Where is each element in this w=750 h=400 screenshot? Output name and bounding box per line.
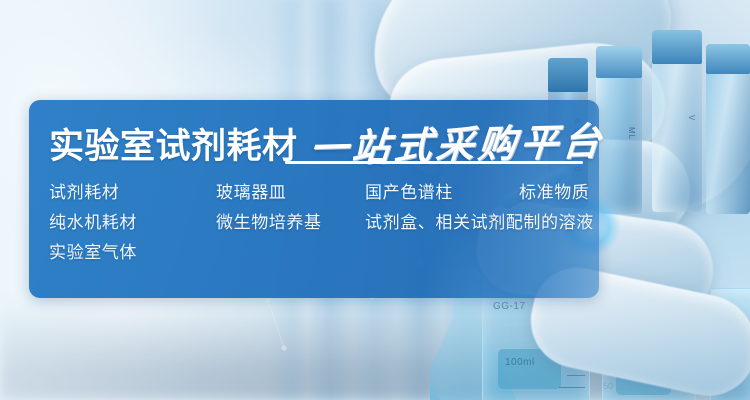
headline-main-text: 实验室试剂耗材 xyxy=(49,129,298,164)
category-item[interactable]: 试剂盒、相关试剂配制的溶液 xyxy=(365,208,594,238)
category-row: 实验室气体 xyxy=(49,238,589,268)
category-item[interactable]: 玻璃器皿 xyxy=(216,178,286,208)
category-item[interactable]: 纯水机耗材 xyxy=(49,208,137,238)
category-item[interactable]: 标准物质 xyxy=(519,178,589,208)
category-list: 试剂耗材 玻璃器皿 国产色谱柱 标准物质 纯水机耗材 微生物培养基 试剂盒、相关… xyxy=(49,178,589,268)
headline: 实验室试剂耗材 一站式采购平台 xyxy=(49,114,585,164)
headline-underline xyxy=(285,161,583,164)
category-item[interactable]: 实验室气体 xyxy=(49,238,137,268)
category-item[interactable]: 试剂耗材 xyxy=(49,178,119,208)
category-row: 纯水机耗材 微生物培养基 试剂盒、相关试剂配制的溶液 xyxy=(49,208,589,238)
promo-banner: 250 APPROX 200 150 100 50 GG-17 100ml Sl… xyxy=(0,0,750,400)
headline-panel: 实验室试剂耗材 一站式采购平台 试剂耗材 玻璃器皿 国产色谱柱 标准物质 纯水机… xyxy=(29,100,599,298)
category-row: 试剂耗材 玻璃器皿 国产色谱柱 标准物质 xyxy=(49,178,589,208)
category-item[interactable]: 微生物培养基 xyxy=(216,208,322,238)
category-item[interactable]: 国产色谱柱 xyxy=(365,178,453,208)
